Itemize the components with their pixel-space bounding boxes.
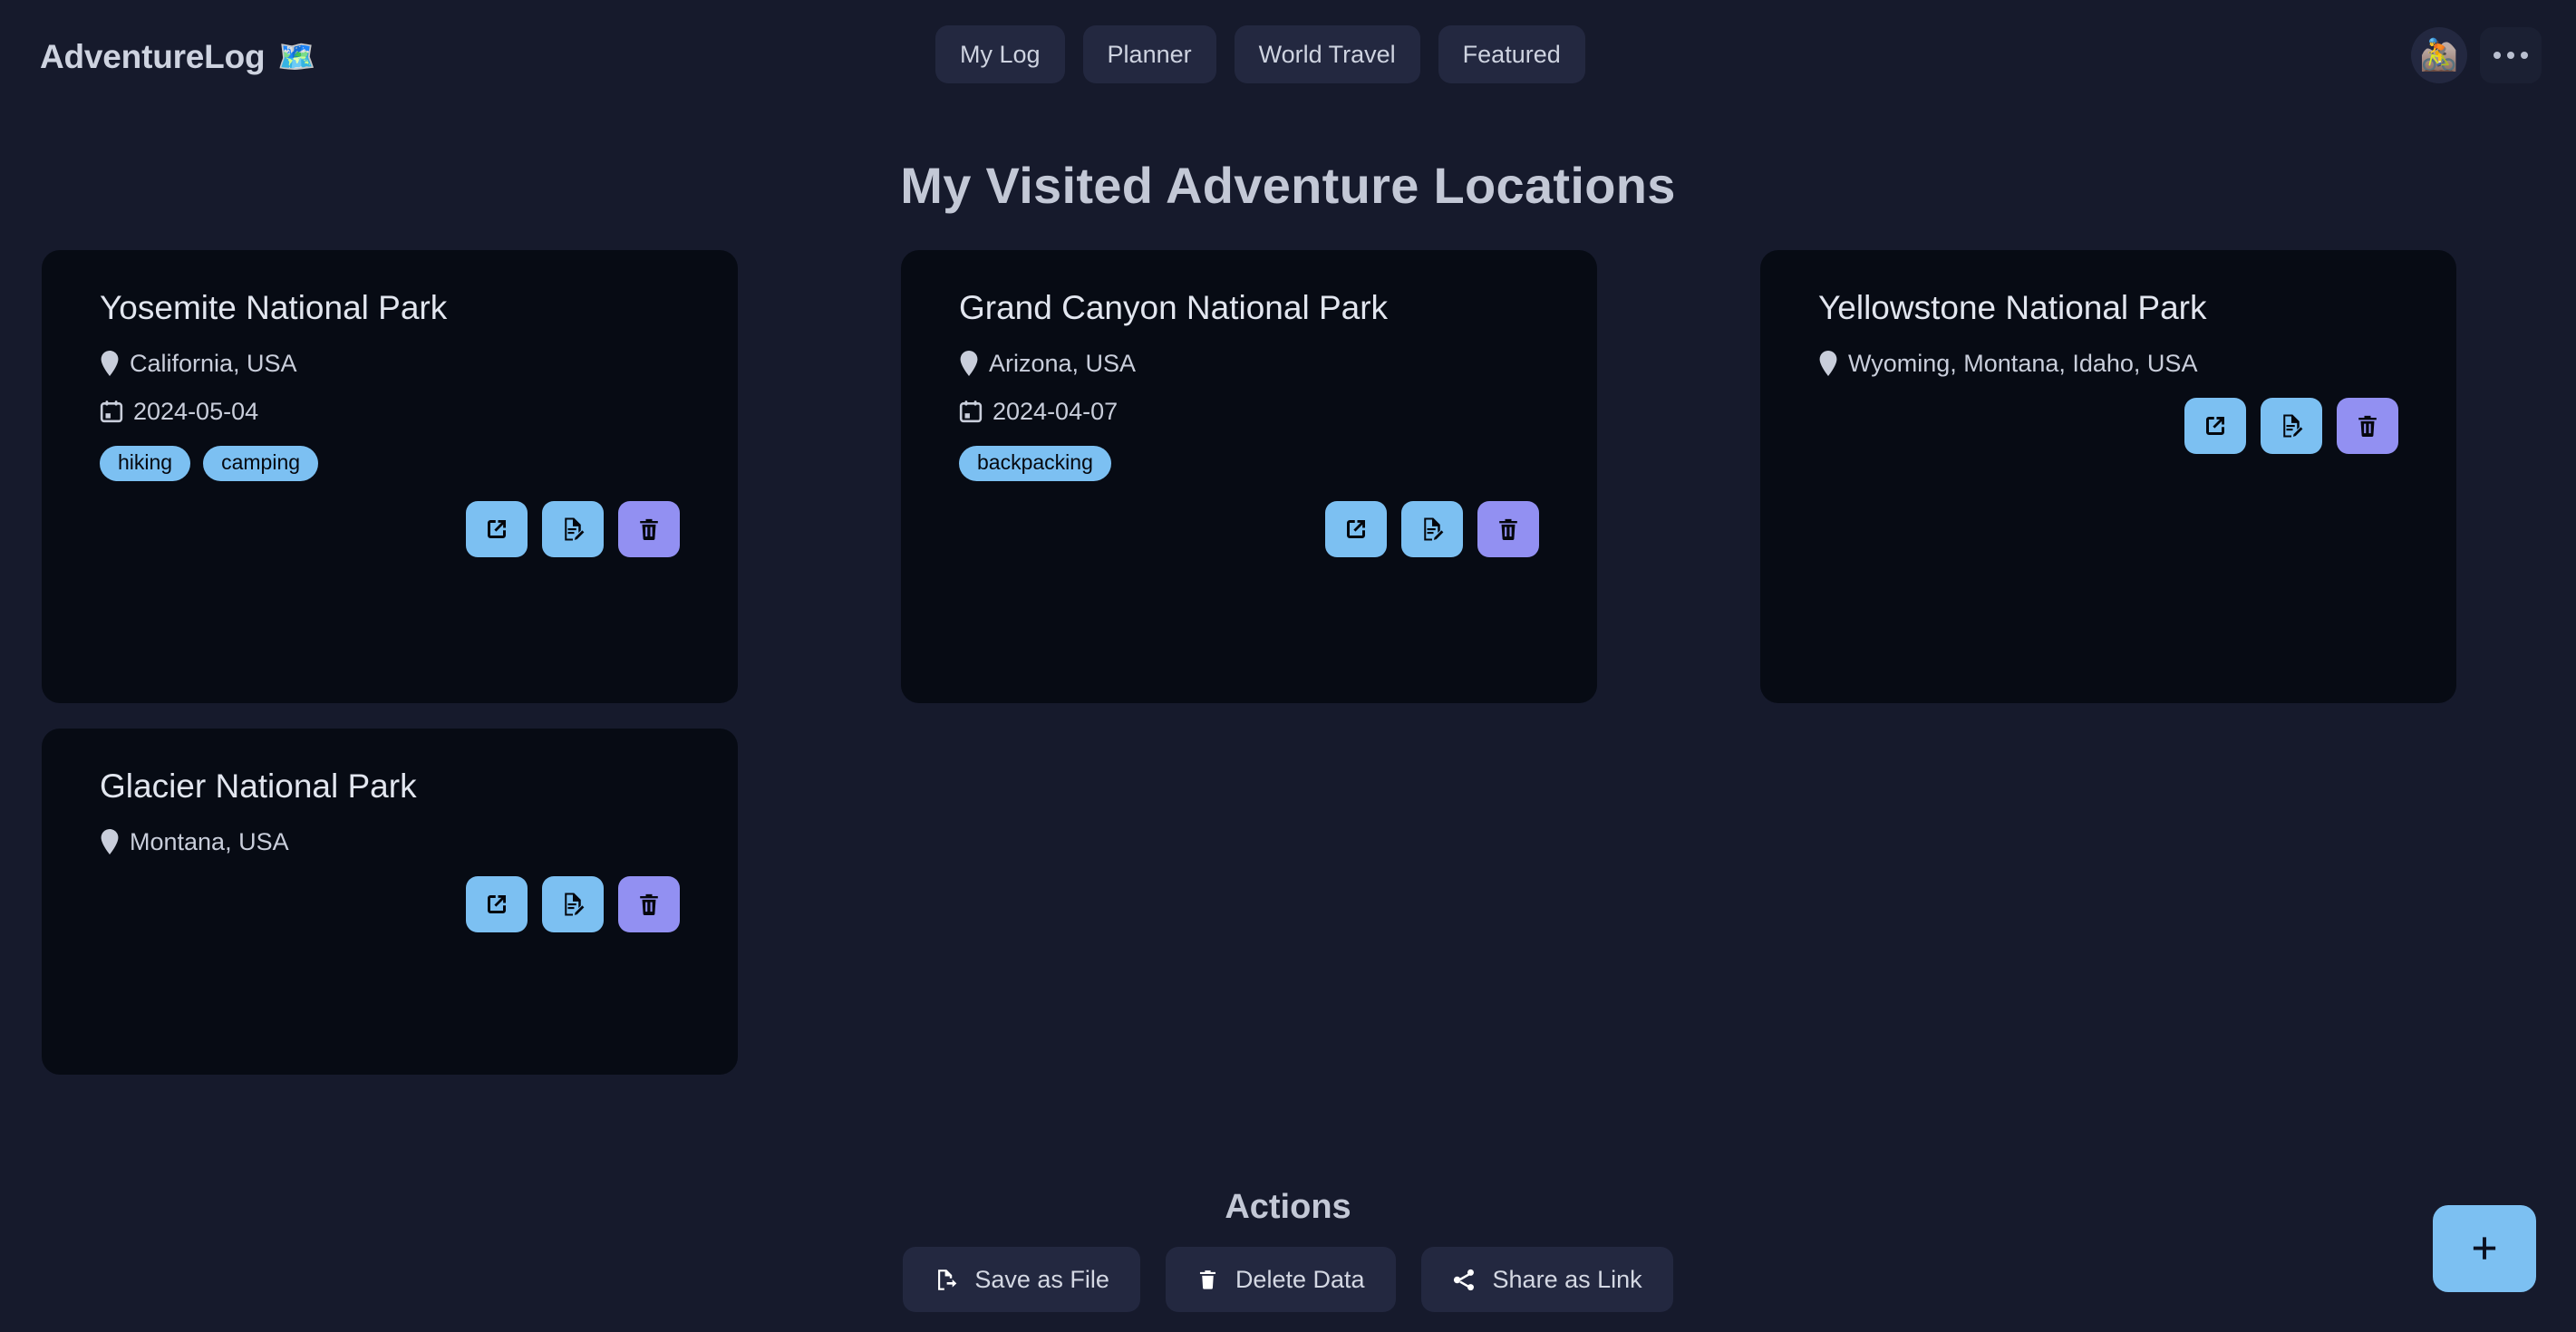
location-pin-icon [1818,351,1838,376]
tag-chip[interactable]: backpacking [959,446,1111,481]
file-edit-icon [559,891,586,918]
card-tags: hiking camping [100,446,680,481]
card-location: Montana, USA [100,828,680,856]
nav-tab-my-log[interactable]: My Log [935,25,1065,83]
external-link-icon [483,516,510,543]
page-title: My Visited Adventure Locations [889,156,1687,216]
tag-chip[interactable]: hiking [100,446,190,481]
external-link-icon [483,891,510,918]
delete-button[interactable] [1477,501,1539,557]
delete-button[interactable] [618,501,680,557]
plus-icon [2468,1232,2501,1265]
add-adventure-fab[interactable] [2433,1205,2536,1292]
open-external-button[interactable] [466,876,528,932]
card-title: Glacier National Park [100,768,680,806]
card-location: Arizona, USA [959,350,1539,378]
app-brand[interactable]: AdventureLog 🗺️ [40,38,316,76]
card-action-buttons [100,876,680,932]
brand-label: AdventureLog [40,38,265,76]
card-title: Yosemite National Park [100,290,680,327]
trash-icon [1196,1269,1219,1291]
card-date: 2024-04-07 [959,398,1539,426]
top-bar-right: 🚵 [2411,27,2542,83]
trash-icon [2355,413,2380,439]
file-export-icon [934,1268,958,1292]
overflow-menu-button[interactable] [2480,27,2542,83]
world-map-icon: 🗺️ [277,42,315,72]
card-location: California, USA [100,350,680,378]
location-text: California, USA [130,350,297,378]
date-text: 2024-04-07 [993,398,1118,426]
actions-row: Save as File Delete Data Share as Link [0,1247,2576,1312]
adventure-card[interactable]: Glacier National Park Montana, USA [42,729,738,1075]
trash-icon [636,892,662,917]
open-external-button[interactable] [1325,501,1387,557]
location-pin-icon [959,351,979,376]
share-as-link-label: Share as Link [1493,1266,1642,1294]
location-text: Arizona, USA [989,350,1136,378]
save-as-file-label: Save as File [974,1266,1109,1294]
adventure-card[interactable]: Yosemite National Park California, USA 2… [42,250,738,703]
card-action-buttons [100,501,680,557]
card-action-buttons [1818,398,2398,454]
nav-tab-world-travel[interactable]: World Travel [1235,25,1420,83]
ellipsis-icon [2507,52,2514,59]
share-as-link-button[interactable]: Share as Link [1421,1247,1673,1312]
location-text: Montana, USA [130,828,289,856]
location-pin-icon [100,351,120,376]
external-link-icon [1342,516,1370,543]
adventure-card[interactable]: Yellowstone National Park Wyoming, Monta… [1760,250,2456,703]
card-title: Yellowstone National Park [1818,290,2398,327]
adventure-card[interactable]: Grand Canyon National Park Arizona, USA … [901,250,1597,703]
delete-button[interactable] [618,876,680,932]
share-icon [1452,1268,1477,1292]
trash-icon [1496,516,1521,542]
file-edit-icon [559,516,586,543]
edit-button[interactable] [542,501,604,557]
nav-tab-planner[interactable]: Planner [1083,25,1216,83]
file-edit-icon [2278,412,2305,439]
date-text: 2024-05-04 [133,398,258,426]
edit-button[interactable] [542,876,604,932]
external-link-icon [2202,412,2229,439]
actions-heading: Actions [0,1188,2576,1227]
card-title: Grand Canyon National Park [959,290,1539,327]
card-tags: backpacking [959,446,1539,481]
avatar[interactable]: 🚵 [2411,27,2467,83]
actions-section: Actions Save as File Delete Data Share a… [0,1188,2576,1332]
open-external-button[interactable] [466,501,528,557]
ellipsis-icon [2494,52,2501,59]
tag-chip[interactable]: camping [203,446,318,481]
location-text: Wyoming, Montana, Idaho, USA [1848,350,2197,378]
delete-data-label: Delete Data [1235,1266,1365,1294]
trash-icon [636,516,662,542]
top-bar: AdventureLog 🗺️ My Log Planner World Tra… [0,0,2576,134]
file-edit-icon [1419,516,1446,543]
main-navigation: My Log Planner World Travel Featured [935,25,1585,83]
open-external-button[interactable] [2184,398,2246,454]
card-date: 2024-05-04 [100,398,680,426]
edit-button[interactable] [2261,398,2322,454]
delete-button[interactable] [2337,398,2398,454]
edit-button[interactable] [1401,501,1463,557]
card-action-buttons [959,501,1539,557]
nav-tab-featured[interactable]: Featured [1438,25,1585,83]
calendar-icon [100,400,123,423]
card-location: Wyoming, Montana, Idaho, USA [1818,350,2398,378]
adventure-card-grid: Yosemite National Park California, USA 2… [0,216,2576,1075]
delete-data-button[interactable]: Delete Data [1166,1247,1396,1312]
location-pin-icon [100,829,120,854]
calendar-icon [959,400,983,423]
ellipsis-icon [2521,52,2528,59]
save-as-file-button[interactable]: Save as File [903,1247,1140,1312]
